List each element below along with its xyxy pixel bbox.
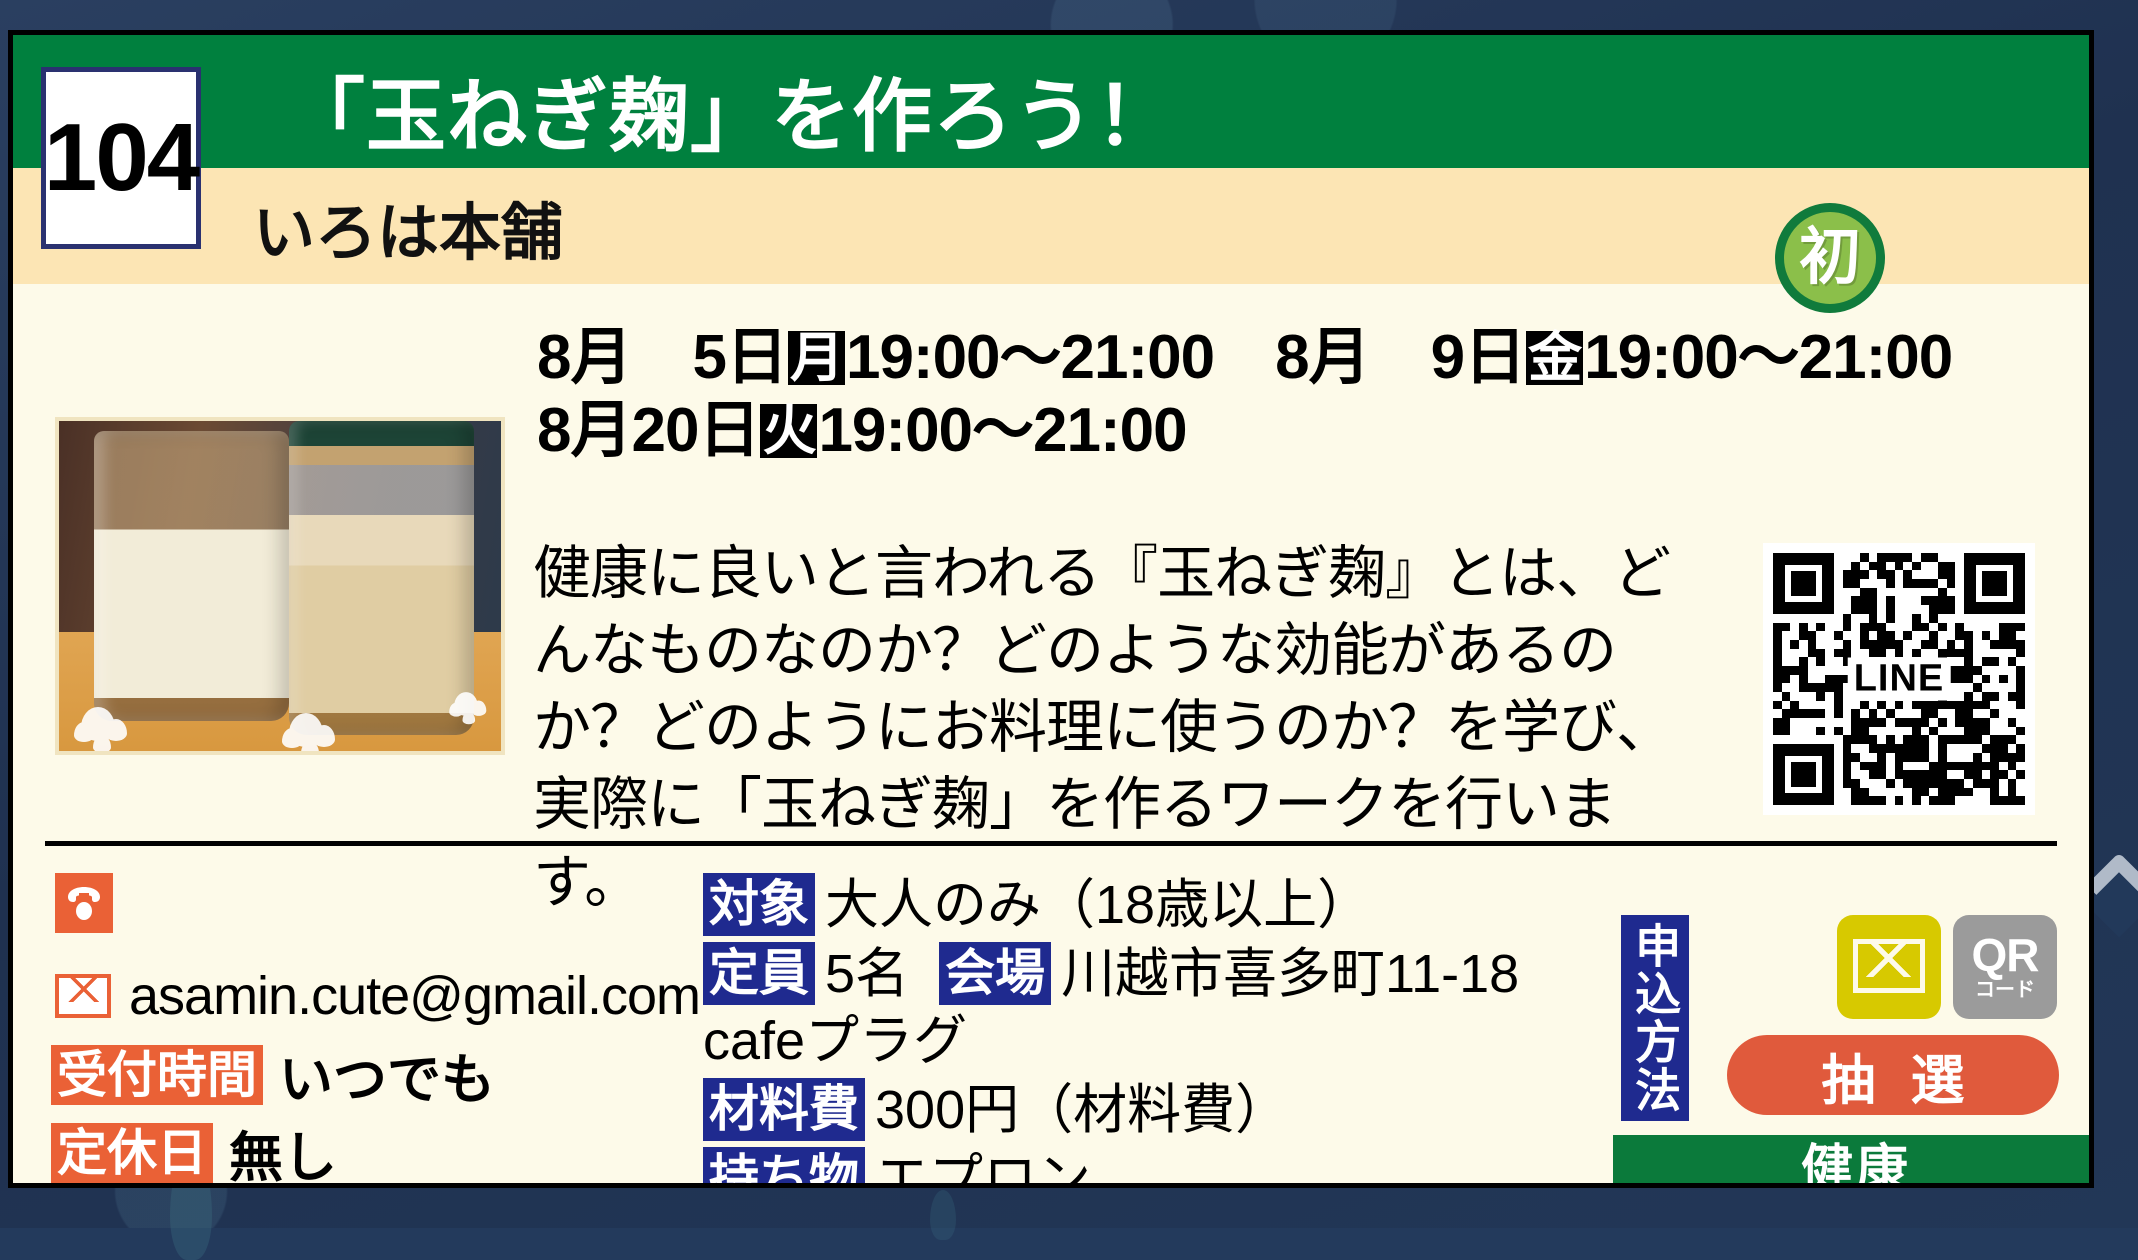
qr-icon-main-text: QR	[1972, 934, 2039, 978]
detail-row-bring: 持ち物エプロン	[703, 1147, 1593, 1188]
event-photo	[55, 417, 505, 755]
apply-method-text: 申込方法	[1631, 922, 1679, 1114]
envelope-glyph	[1853, 939, 1925, 993]
event-flyer-card: 104 「玉ねぎ麹」を作ろう！ いろは本舗 初 8月 5日月19:00〜21:0…	[8, 30, 2094, 1188]
koji-jar-left	[94, 431, 288, 721]
detail-label-capacity: 定員	[703, 942, 815, 1005]
first-time-badge-label: 初	[1799, 227, 1861, 289]
holiday-row: 定休日 無し	[51, 1113, 337, 1188]
qr-matrix: LINE	[1773, 553, 2025, 805]
lottery-label: 抽 選	[1811, 1036, 1974, 1115]
entry-number: 104	[44, 110, 198, 206]
reception-hours-value: いつでも	[279, 1035, 495, 1114]
weekday-chip: 金	[1526, 331, 1583, 385]
qr-caption: LINE	[1848, 658, 1951, 701]
email-address[interactable]: asamin.cute@gmail.com	[129, 965, 700, 1027]
reception-hours-label: 受付時間	[51, 1045, 263, 1105]
detail-value-bring: エプロン	[875, 1149, 1091, 1188]
event-details-list: 対象大人のみ（18歳以上） 定員5名 会場川越市喜多町11-18 cafeプラグ…	[703, 873, 1593, 1188]
qr-icon-sub-text: コード	[1975, 980, 2035, 1000]
detail-value-target: 大人のみ（18歳以上）	[825, 875, 1371, 935]
koji-jar-right	[289, 421, 475, 735]
apply-qr-icon[interactable]: QR コード	[1953, 915, 2057, 1019]
line-qr-code[interactable]: LINE	[1763, 543, 2035, 815]
detail-value-venue: 川越市喜多町11-18	[1061, 944, 1519, 1004]
lottery-badge: 抽 選	[1727, 1035, 2059, 1115]
detail-label-target: 対象	[703, 873, 815, 936]
weekday-chip: 火	[760, 404, 817, 458]
holiday-value: 無し	[229, 1113, 337, 1188]
telephone-icon	[55, 873, 113, 933]
mail-icon	[55, 974, 111, 1018]
first-time-badge: 初	[1775, 203, 1885, 313]
detail-label-fee: 材料費	[703, 1078, 865, 1141]
entry-number-box: 104	[41, 67, 201, 249]
event-description: 健康に良いと言われる『玉ねぎ麹』とは、どんなものなのか？どのような効能があるのか…	[533, 535, 1713, 921]
detail-row-capacity-venue: 定員5名 会場川越市喜多町11-18	[703, 942, 1593, 1007]
apply-mail-icon[interactable]	[1837, 915, 1941, 1019]
category-footer: 健康	[1613, 1135, 2094, 1188]
detail-value-fee: 300円（材料費）	[875, 1080, 1289, 1140]
schedule-line: 8月20日火19:00〜21:00	[537, 394, 1952, 467]
detail-row-target: 対象大人のみ（18歳以上）	[703, 873, 1593, 938]
detail-value-capacity: 5名	[825, 944, 909, 1004]
detail-value-venue-line2: cafeプラグ	[703, 1011, 967, 1071]
detail-label-bring: 持ち物	[703, 1147, 865, 1188]
decorative-blob	[930, 1190, 956, 1240]
detail-label-venue: 会場	[939, 942, 1051, 1005]
reception-hours-row: 受付時間 いつでも	[51, 1035, 495, 1114]
category-label: 健康	[1801, 1127, 1911, 1189]
email-row: asamin.cute@gmail.com	[55, 965, 700, 1027]
detail-row-fee: 材料費300円（材料費）	[703, 1078, 1593, 1143]
schedule-line: 8月 5日月19:00〜21:00 8月 9日金19:00〜21:00	[537, 321, 1952, 394]
apply-method-label: 申込方法	[1621, 915, 1689, 1121]
tablecloth-flower	[289, 713, 323, 747]
weekday-chip: 月	[788, 331, 845, 385]
holiday-label: 定休日	[51, 1123, 213, 1183]
page-title: 「玉ねぎ麹」を作ろう！	[285, 55, 1176, 165]
tablecloth-flower	[454, 692, 478, 716]
tablecloth-flower	[81, 707, 115, 741]
schedule-text: 8月 5日月19:00〜21:00 8月 9日金19:00〜21:008月20日…	[537, 321, 1952, 467]
organizer-name: いろは本舗	[253, 178, 563, 276]
section-divider	[45, 841, 2057, 846]
detail-row-venue-line2: cafeプラグ	[703, 1010, 1593, 1074]
